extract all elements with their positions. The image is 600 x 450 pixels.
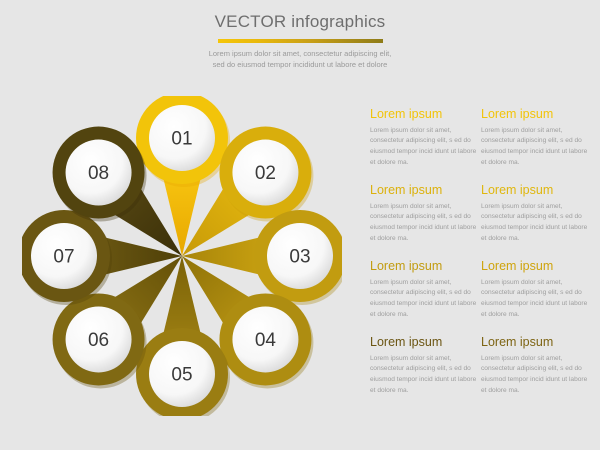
content-block-7: Lorem ipsumLorem ipsum dolor sit amet, c…	[370, 336, 477, 412]
petal-number-label: 06	[88, 330, 109, 351]
block-body-text: Lorem ipsum dolor sit amet, consectetur …	[370, 354, 477, 397]
content-grid: Lorem ipsumLorem ipsum dolor sit amet, c…	[370, 108, 588, 412]
content-block-1: Lorem ipsumLorem ipsum dolor sit amet, c…	[370, 108, 477, 184]
title-secondary: infographics	[291, 12, 385, 31]
content-block-6: Lorem ipsumLorem ipsum dolor sit amet, c…	[481, 260, 588, 336]
block-body-text: Lorem ipsum dolor sit amet, consectetur …	[481, 354, 588, 397]
petal-number-label: 01	[171, 129, 192, 150]
petal-number-label: 02	[255, 163, 276, 184]
header: VECTOR infographics Lorem ipsum dolor si…	[0, 12, 600, 71]
petal-number-label: 03	[289, 247, 310, 268]
block-body-text: Lorem ipsum dolor sit amet, consectetur …	[370, 126, 477, 169]
block-heading: Lorem ipsum	[481, 184, 588, 198]
page-title: VECTOR infographics	[0, 12, 600, 32]
petal-number-label: 04	[255, 330, 277, 351]
content-block-3: Lorem ipsumLorem ipsum dolor sit amet, c…	[370, 184, 477, 260]
block-heading: Lorem ipsum	[481, 260, 588, 274]
block-heading: Lorem ipsum	[370, 184, 477, 198]
block-heading: Lorem ipsum	[481, 108, 588, 122]
header-subtitle: Lorem ipsum dolor sit amet, consectetur …	[0, 49, 600, 71]
pinwheel-diagram: 0102030405060708	[22, 96, 342, 416]
infographic-canvas: VECTOR infographics Lorem ipsum dolor si…	[0, 0, 600, 450]
title-underline-bar	[218, 39, 383, 43]
block-body-text: Lorem ipsum dolor sit amet, consectetur …	[370, 202, 477, 245]
subtitle-line-1: Lorem ipsum dolor sit amet, consectetur …	[0, 49, 600, 60]
petal-number-label: 05	[171, 365, 192, 386]
content-block-2: Lorem ipsumLorem ipsum dolor sit amet, c…	[481, 108, 588, 184]
block-heading: Lorem ipsum	[370, 108, 477, 122]
content-block-8: Lorem ipsumLorem ipsum dolor sit amet, c…	[481, 336, 588, 412]
petal-number-label: 07	[53, 247, 74, 268]
block-body-text: Lorem ipsum dolor sit amet, consectetur …	[481, 126, 588, 169]
block-heading: Lorem ipsum	[370, 336, 477, 350]
block-body-text: Lorem ipsum dolor sit amet, consectetur …	[481, 278, 588, 321]
block-body-text: Lorem ipsum dolor sit amet, consectetur …	[481, 202, 588, 245]
block-body-text: Lorem ipsum dolor sit amet, consectetur …	[370, 278, 477, 321]
title-primary: VECTOR	[215, 12, 287, 31]
block-heading: Lorem ipsum	[370, 260, 477, 274]
subtitle-line-2: sed do eiusmod tempor incididunt ut labo…	[0, 60, 600, 71]
block-heading: Lorem ipsum	[481, 336, 588, 350]
content-block-4: Lorem ipsumLorem ipsum dolor sit amet, c…	[481, 184, 588, 260]
content-block-5: Lorem ipsumLorem ipsum dolor sit amet, c…	[370, 260, 477, 336]
petal-number-label: 08	[88, 163, 109, 184]
